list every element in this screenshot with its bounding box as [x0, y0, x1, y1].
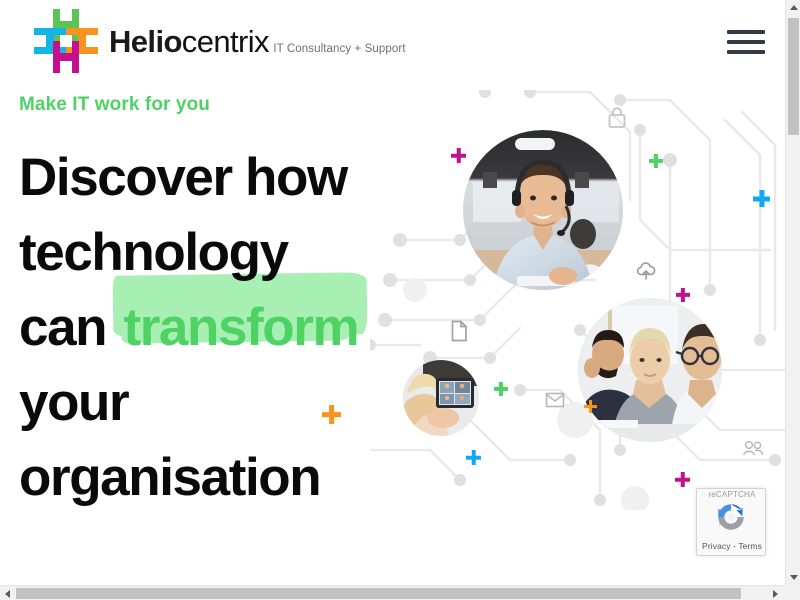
- lock-icon: [607, 106, 627, 135]
- headline-line-1: Discover how: [19, 140, 419, 215]
- vertical-scrollbar[interactable]: [785, 0, 800, 585]
- support-agent-photo: [463, 130, 623, 290]
- headline-highlight: transform: [119, 290, 362, 365]
- recaptcha-privacy-terms-links[interactable]: Privacy - Terms: [697, 541, 766, 551]
- headline-line-4: your: [19, 365, 419, 440]
- document-icon: [450, 320, 468, 347]
- scrollbar-corner: [784, 584, 800, 600]
- horizontal-scrollbar-thumb[interactable]: [16, 588, 741, 599]
- plus-magenta-mid-right: [676, 288, 690, 302]
- plus-orange-mid-right: [584, 400, 597, 413]
- headline-line-5: organisation: [19, 440, 419, 515]
- team-meeting-photo-art: [578, 298, 722, 442]
- scroll-right-arrow-icon[interactable]: [768, 586, 783, 600]
- heliocentrix-logo-mark: [33, 8, 99, 74]
- plus-magenta-bottom: [675, 472, 690, 487]
- support-agent-photo-art: [463, 130, 623, 290]
- headline-line-3: can transform: [19, 290, 419, 365]
- headline-line-2: technology: [19, 215, 419, 290]
- hamburger-menu-icon[interactable]: [727, 26, 767, 58]
- hero-headline: Discover how technology can transform yo…: [19, 140, 419, 515]
- plus-green-mid: [494, 382, 508, 396]
- logo-h-magenta: [53, 41, 79, 73]
- brand-tagline: IT Consultancy + Support: [273, 43, 405, 55]
- hero-illustration: [370, 90, 785, 510]
- plus-blue-right: [753, 190, 770, 207]
- hamburger-bar-3: [727, 50, 765, 54]
- brand-name-bold: Helio: [109, 24, 182, 59]
- hamburger-bar-1: [727, 30, 765, 34]
- horizontal-scrollbar[interactable]: [0, 585, 800, 600]
- brand-name-light: centrix: [182, 24, 269, 59]
- headline-highlight-word: transform: [123, 298, 358, 357]
- logo-wordmark: Heliocentrix IT Consultancy + Support: [109, 23, 406, 59]
- hamburger-bar-2: [727, 40, 765, 44]
- web-page-content: Heliocentrix IT Consultancy + Support: [0, 0, 785, 585]
- recaptcha-logo-icon: [714, 500, 748, 534]
- hero-eyebrow: Make IT work for you: [19, 92, 419, 118]
- site-header: Heliocentrix IT Consultancy + Support: [0, 0, 785, 84]
- scroll-down-arrow-icon[interactable]: [786, 570, 800, 585]
- team-meeting-photo: [578, 298, 722, 442]
- scroll-up-arrow-icon[interactable]: [786, 0, 800, 15]
- vertical-scrollbar-thumb[interactable]: [788, 18, 799, 135]
- hero-text-block: Make IT work for you Discover how techno…: [19, 92, 419, 515]
- mail-icon: [545, 392, 565, 413]
- headline-line-3-prefix: can: [19, 298, 119, 357]
- plus-blue-bottom: [466, 450, 481, 465]
- plus-magenta-top-left: [451, 148, 466, 163]
- browser-viewport: Heliocentrix IT Consultancy + Support: [0, 0, 800, 600]
- plus-orange-left: [322, 405, 341, 424]
- users-icon: [742, 440, 764, 461]
- cloud-upload-icon: [635, 260, 657, 287]
- plus-green-top-right: [649, 154, 663, 168]
- recaptcha-title: reCAPTCHA: [697, 490, 766, 499]
- site-logo[interactable]: Heliocentrix IT Consultancy + Support: [33, 8, 406, 74]
- scroll-left-arrow-icon[interactable]: [0, 586, 15, 600]
- brand-name: Heliocentrix: [109, 24, 269, 59]
- recaptcha-badge[interactable]: reCAPTCHA Privacy - Terms: [696, 488, 766, 556]
